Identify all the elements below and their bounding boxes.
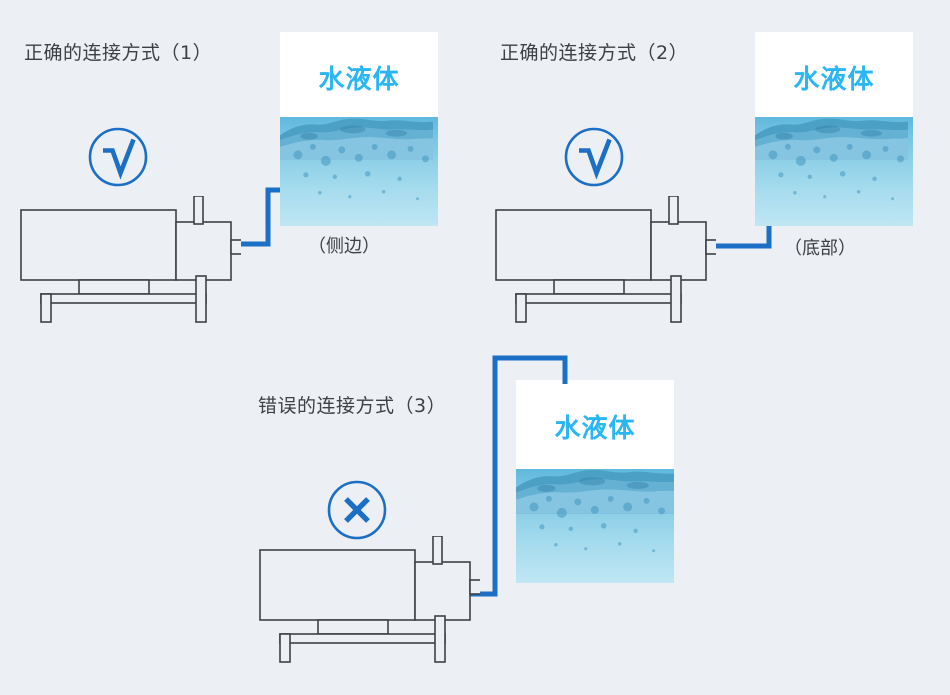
check-circle-icon xyxy=(563,126,625,188)
water-surface-2 xyxy=(755,110,908,160)
tank-caption-2: （底部） xyxy=(784,234,856,260)
tank-caption-1: （侧边） xyxy=(308,232,380,258)
panel-3-title: 错误的连接方式（3） xyxy=(258,391,446,418)
water-surface-3 xyxy=(516,461,674,514)
cross-circle-icon xyxy=(326,479,388,541)
water-tank-1: 水液体 xyxy=(280,32,438,226)
diagram-canvas: 正确的连接方式（1） 水液体 xyxy=(0,0,950,695)
panel-2-title: 正确的连接方式（2） xyxy=(500,38,688,65)
check-circle-icon xyxy=(87,126,149,188)
pump-assembly-2 xyxy=(491,196,716,324)
panel-1-title: 正确的连接方式（1） xyxy=(24,38,212,65)
water-tank-2: 水液体 xyxy=(755,32,913,226)
water-surface-1 xyxy=(280,110,433,160)
pump-assembly-1 xyxy=(16,196,241,324)
tank-label-2: 水液体 xyxy=(755,59,913,96)
pump-assembly-3 xyxy=(255,536,480,664)
tank-label-1: 水液体 xyxy=(280,59,438,96)
